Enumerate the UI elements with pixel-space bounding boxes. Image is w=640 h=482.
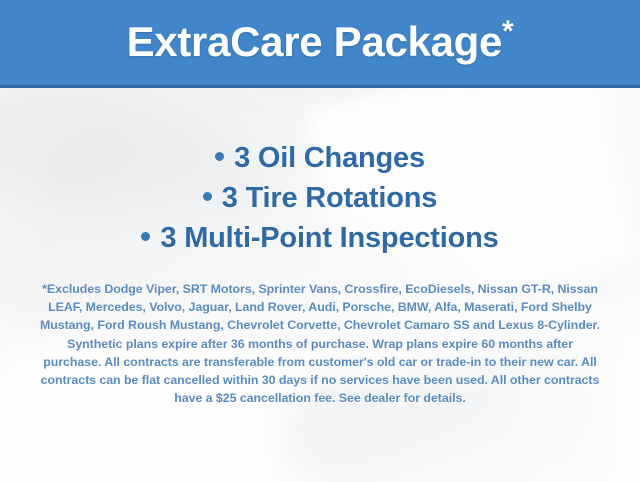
extracare-promo-card: ExtraCare Package* 3 Oil Changes 3 Tire … — [0, 0, 640, 482]
page-title-text: ExtraCare Package — [127, 18, 502, 65]
bullet-dot-icon — [203, 192, 212, 201]
page-title-asterisk: * — [502, 15, 513, 48]
list-item: 3 Multi-Point Inspections — [0, 218, 640, 258]
disclaimer-text: *Excludes Dodge Viper, SRT Motors, Sprin… — [38, 280, 602, 407]
bullet-dot-icon — [141, 232, 150, 241]
list-item: 3 Tire Rotations — [0, 178, 640, 218]
list-item: 3 Oil Changes — [0, 138, 640, 178]
benefits-list: 3 Oil Changes 3 Tire Rotations 3 Multi-P… — [0, 138, 640, 258]
page-title: ExtraCare Package* — [127, 21, 514, 63]
bullet-dot-icon — [215, 152, 224, 161]
main-content: 3 Oil Changes 3 Tire Rotations 3 Multi-P… — [0, 88, 640, 482]
benefit-label: 3 Multi-Point Inspections — [160, 222, 498, 254]
benefit-label: 3 Tire Rotations — [222, 182, 437, 214]
header-banner: ExtraCare Package* — [0, 0, 640, 88]
benefit-label: 3 Oil Changes — [234, 142, 425, 174]
